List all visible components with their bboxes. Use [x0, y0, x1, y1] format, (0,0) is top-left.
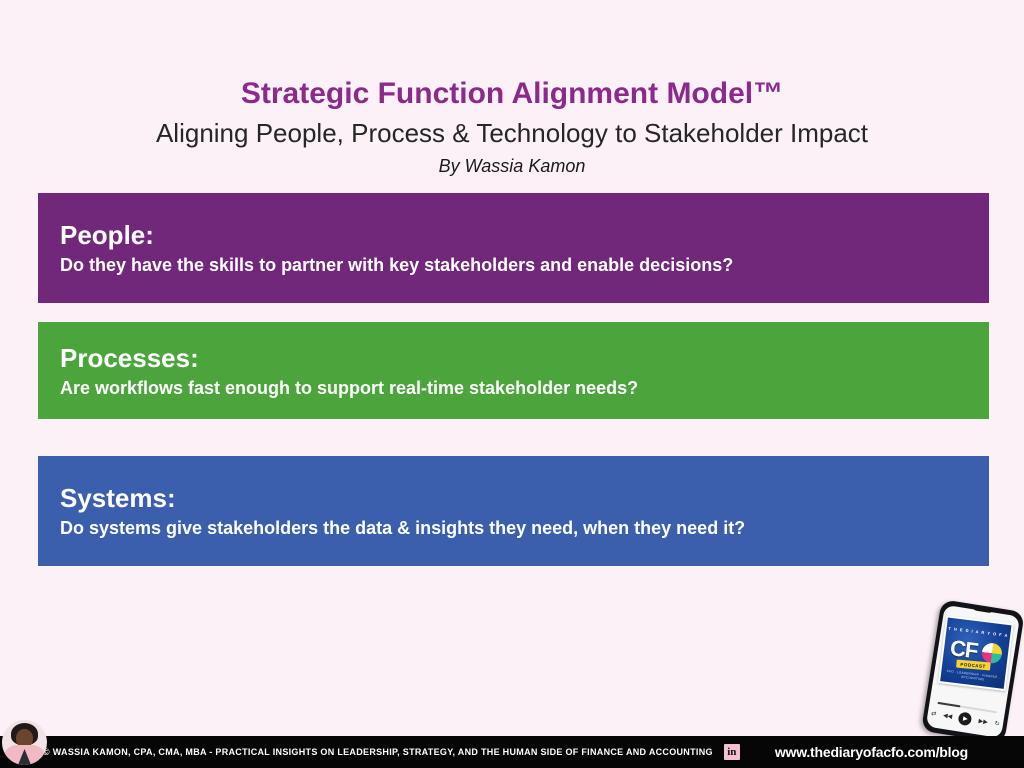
pillar-card-processes: Processes: Are workflows fast enough to … — [38, 322, 989, 419]
pillar-question-processes: Are workflows fast enough to support rea… — [60, 376, 989, 400]
pillar-card-people: People: Do they have the skills to partn… — [38, 193, 989, 303]
footer-bar: © WASSIA KAMON, CPA, CMA, MBA - PRACTICA… — [0, 736, 1024, 768]
pillar-card-systems: Systems: Do systems give stakeholders th… — [38, 456, 989, 566]
phone-body: T H E D I A R Y O F A CF PODCAST CFO . L… — [921, 599, 1024, 744]
repeat-icon[interactable]: ↻ — [994, 720, 1000, 728]
page-title: Strategic Function Alignment Model™ — [0, 74, 1024, 114]
avatar — [2, 720, 47, 765]
page-subtitle: Aligning People, Process & Technology to… — [0, 116, 1024, 150]
pillar-heading-systems: Systems: — [60, 482, 989, 514]
next-track-icon[interactable]: ▶▶ — [978, 718, 988, 726]
previous-track-icon[interactable]: ◀◀ — [943, 712, 953, 720]
title-block: Strategic Function Alignment Model™ Alig… — [0, 74, 1024, 179]
linkedin-icon[interactable]: in — [724, 744, 740, 760]
podcast-badge: PODCAST — [956, 660, 990, 671]
author-byline: By Wassia Kamon — [0, 153, 1024, 179]
podcast-phone-graphic: T H E D I A R Y O F A CF PODCAST CFO . L… — [915, 594, 1024, 747]
shuffle-icon[interactable]: ⇄ — [931, 710, 937, 718]
album-art-inner: T H E D I A R Y O F A CF PODCAST CFO . L… — [940, 618, 1011, 689]
footer-credit-text: © WASSIA KAMON, CPA, CMA, MBA - PRACTICA… — [43, 747, 713, 757]
pillar-question-systems: Do systems give stakeholders the data & … — [60, 516, 989, 540]
pillar-question-people: Do they have the skills to partner with … — [60, 253, 989, 277]
pillar-heading-people: People: — [60, 219, 989, 251]
album-subtext: CFO . LEADERSHIP . FINANCE . ACCOUNTING — [941, 668, 1005, 684]
pillar-heading-processes: Processes: — [60, 342, 989, 374]
podcast-album-art: T H E D I A R Y O F A CF PODCAST CFO . L… — [938, 615, 1014, 691]
phone-screen: T H E D I A R Y O F A CF PODCAST CFO . L… — [926, 605, 1020, 738]
play-button-icon[interactable]: ▶ — [958, 711, 973, 726]
footer-website-url[interactable]: www.thediaryofacfo.com/blog — [775, 744, 968, 760]
